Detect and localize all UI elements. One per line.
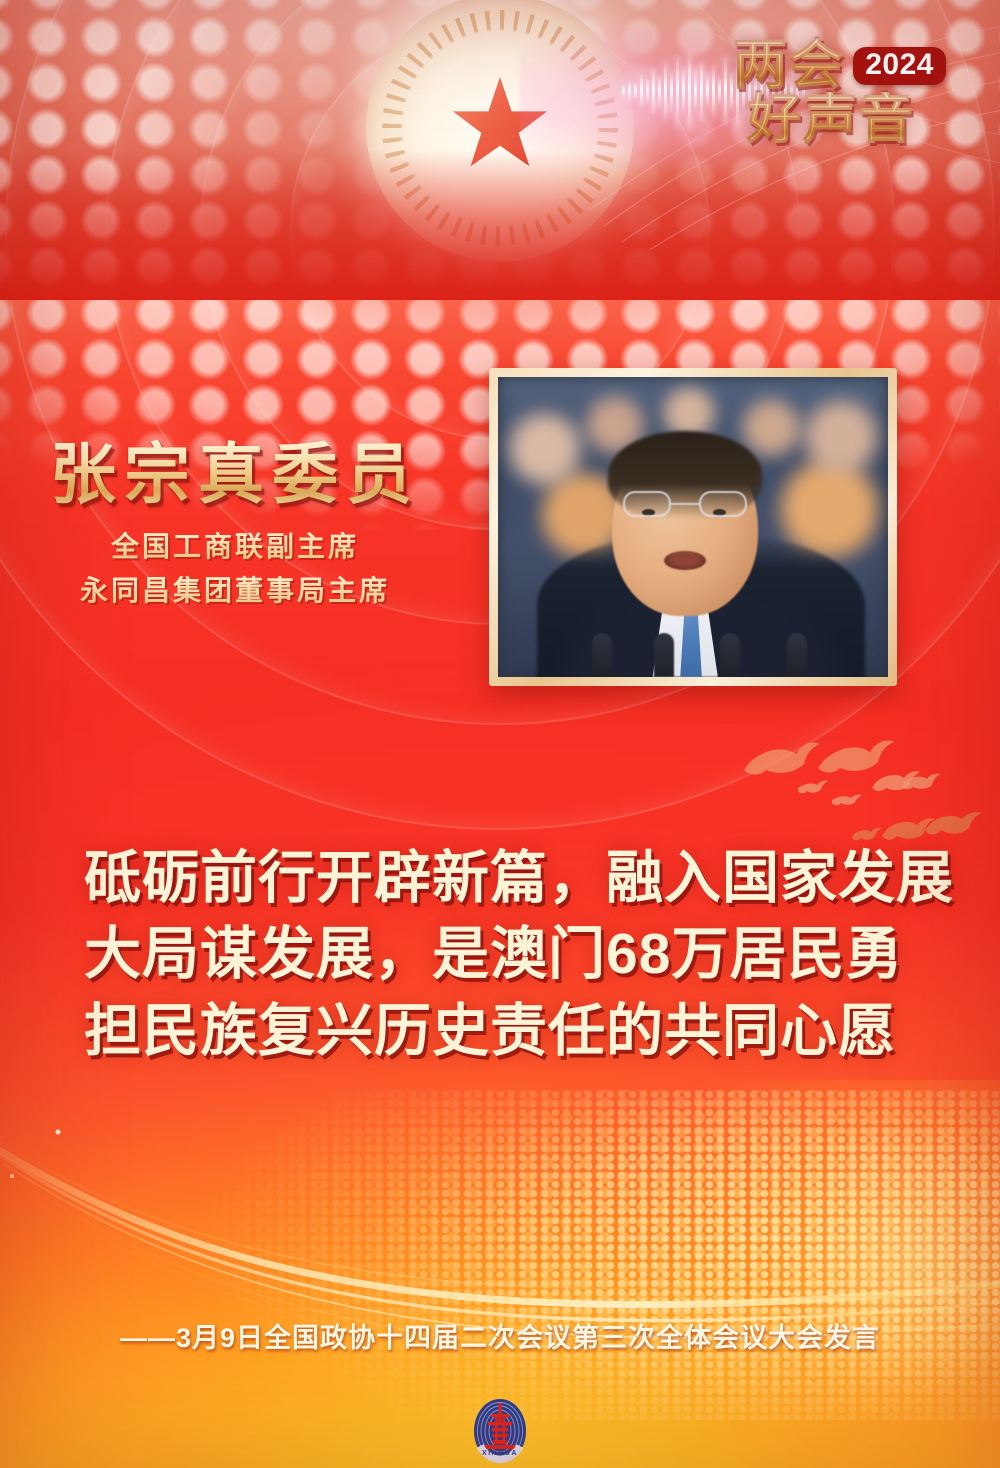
photo-microphones <box>498 631 888 677</box>
subject-role-line-1: 全国工商联副主席 <box>0 526 470 569</box>
subject-role-line-2: 永同昌集团董事局主席 <box>0 570 470 613</box>
quote-text: 砥砺前行开辟新篇，融入国家发展 大局谋发展，是澳门68万居民勇 担民族复兴历史责… <box>84 840 954 1069</box>
xinhua-agency-logo-icon: XINHUA <box>471 1398 529 1464</box>
quote-line-2: 大局谋发展，是澳门68万居民勇 <box>84 916 954 992</box>
portrait-photo <box>498 377 888 677</box>
svg-text:XINHUA: XINHUA <box>482 1448 518 1457</box>
logo-line-1: 两会 <box>733 38 845 92</box>
source-caption: ——3月9日全国政协十四届二次会议第三次全体会议大会发言 <box>0 1316 1000 1355</box>
subject-name: 张宗真委员 <box>0 438 470 512</box>
quote-line-1: 砥砺前行开辟新篇，融入国家发展 <box>84 840 954 916</box>
quote-line-3: 担民族复兴历史责任的共同心愿 <box>84 993 954 1069</box>
photo-eyeglasses <box>623 491 747 517</box>
subject-info: 张宗真委员 全国工商联副主席 永同昌集团董事局主席 <box>0 438 470 613</box>
program-logo: 两会 好声音 2024 <box>733 38 948 146</box>
year-badge: 2024 <box>853 47 946 85</box>
poster-root: 两会 好声音 2024 张宗真委员 全国工商联副主席 永同昌集团董事局主席 <box>0 0 1000 1468</box>
logo-line-2: 好声音 <box>747 92 915 146</box>
bottom-right-glow <box>600 1080 1000 1468</box>
portrait-frame <box>489 368 897 686</box>
photo-mouth <box>664 551 706 570</box>
